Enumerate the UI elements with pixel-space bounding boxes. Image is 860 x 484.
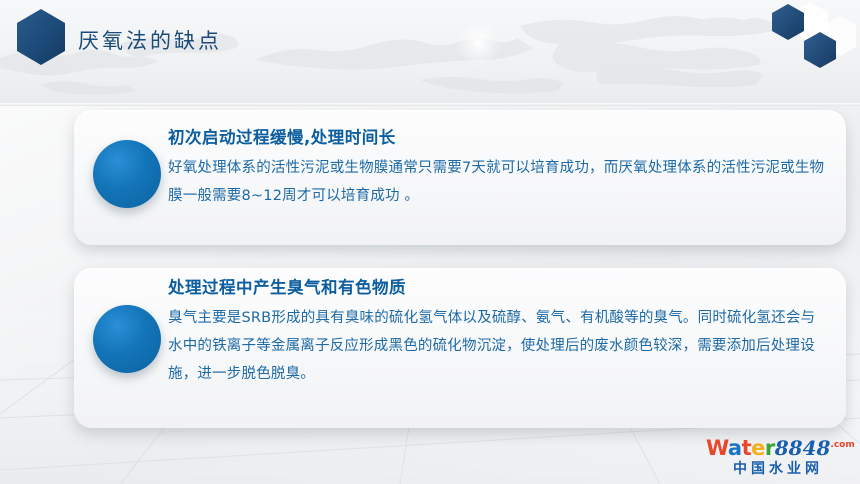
page-title: 厌氧法的缺点 [78,25,222,55]
card-heading: 初次启动过程缓慢,处理时间长 [168,126,828,151]
circle-bullet-icon [93,140,161,208]
logo-chinese-name: 中国水业网 [706,462,846,476]
card-body: 好氧处理体系的活性污泥或生物膜通常只需要7天就可以培育成功，而厌氧处理体系的活性… [168,154,828,210]
card-body: 臭气主要是SRB形成的具有臭味的硫化氢气体以及硫醇、氨气、有机酸等的臭气。同时硫… [168,304,828,388]
world-map-watermark [0,0,860,112]
logo-letter-w: W [706,436,728,460]
light-glow [455,20,501,66]
circle-bullet-icon [93,305,161,373]
logo-number: 8848 [775,436,831,460]
logo-letter-r: r [765,436,775,460]
logo-wordmark: Water8848.com [706,438,846,459]
corner-hexagon-cluster [748,0,856,72]
card-text-block: 初次启动过程缓慢,处理时间长 好氧处理体系的活性污泥或生物膜通常只需要7天就可以… [168,126,828,210]
card-text-block: 处理过程中产生臭气和有色物质 臭气主要是SRB形成的具有臭味的硫化氢气体以及硫醇… [168,276,828,388]
logo-letter-t: t [742,436,752,460]
slide-canvas: 厌氧法的缺点 初次启动过程缓慢,处理时间长 好氧处理体系的活性污泥或生物膜通常只… [0,0,860,484]
site-logo: Water8848.com 中国水业网 [706,438,846,476]
logo-letter-e: e [751,436,765,460]
logo-letter-a: a [728,436,742,460]
hexagon-icon [14,7,68,67]
logo-domain-suffix: .com [830,440,854,450]
card-heading: 处理过程中产生臭气和有色物质 [168,276,828,301]
